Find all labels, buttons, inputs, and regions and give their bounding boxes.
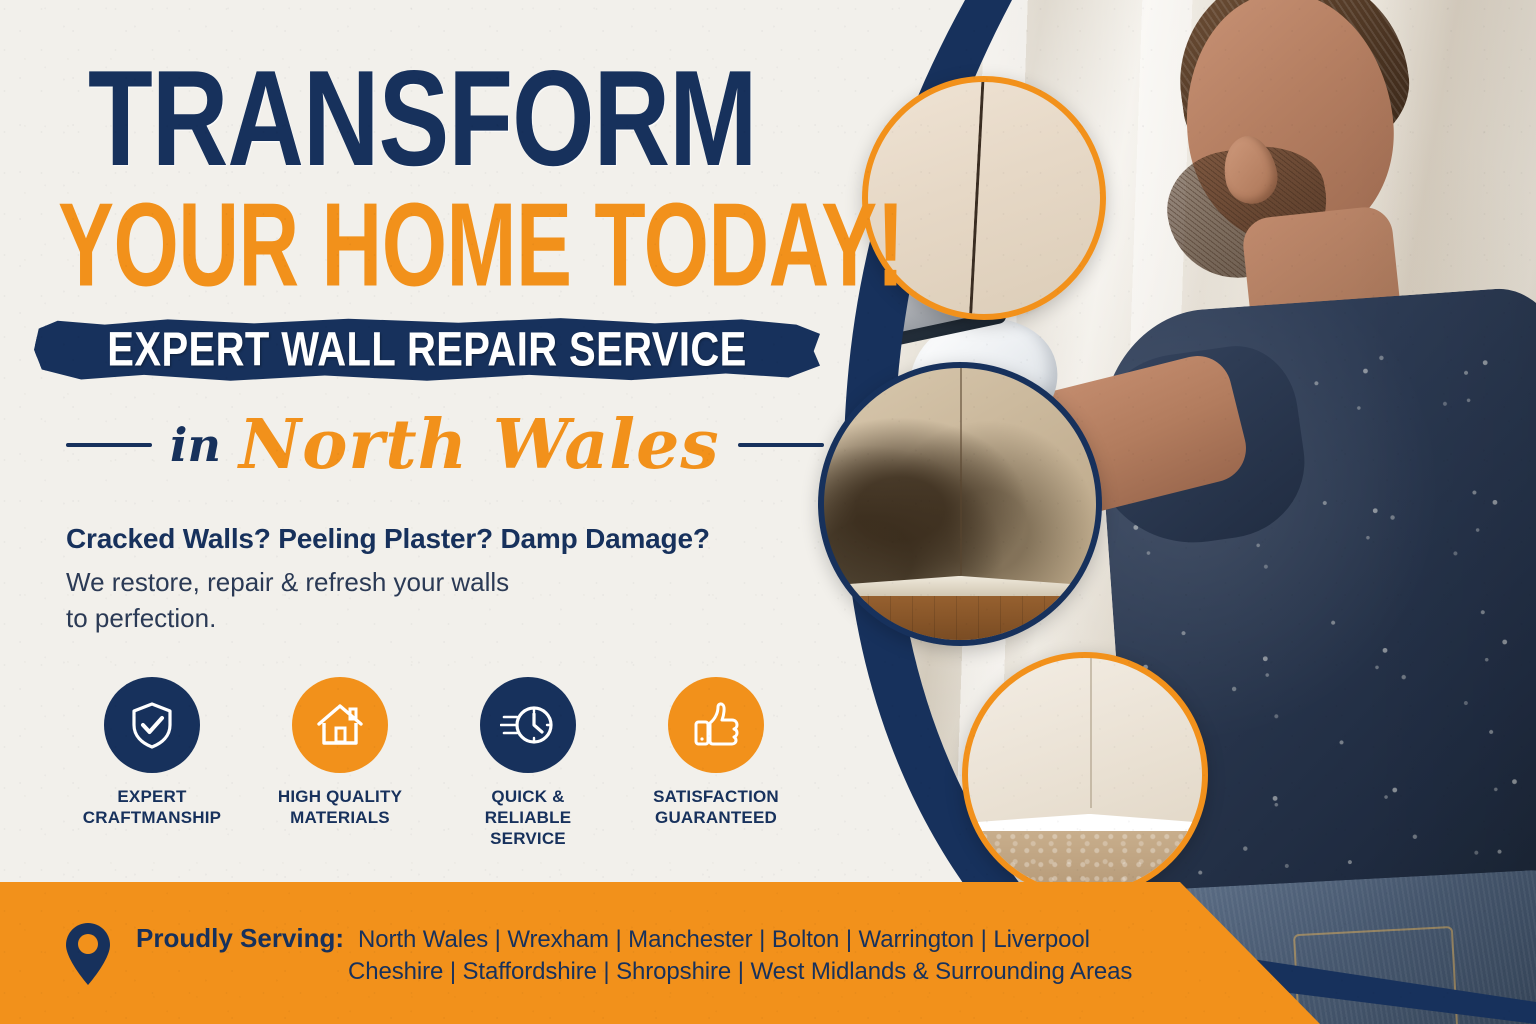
feature-label: QUICK & RELIABLE SERVICE: [452, 787, 604, 849]
advertisement-poster: TRANSFORM YOUR HOME TODAY! EXPERT WALL R…: [0, 0, 1536, 1024]
crack-detail: [968, 76, 985, 320]
serving-label: Proudly Serving:: [136, 923, 344, 954]
headline-line-1: TRANSFORM: [88, 62, 893, 176]
rule-right: [738, 443, 824, 447]
feature-label-line1: QUICK &: [491, 787, 564, 806]
serving-areas: Proudly Serving: North Wales | Wrexham |…: [0, 884, 1250, 1024]
serving-areas-line-1: North Wales | Wrexham | Manchester | Bol…: [358, 926, 1090, 954]
lead-question: Cracked Walls? Peeling Plaster? Damp Dam…: [66, 523, 870, 555]
feature-label: EXPERT CRAFTMANSHIP: [76, 787, 228, 828]
feature-item: QUICK & RELIABLE SERVICE: [452, 677, 604, 849]
body-line-2: to perfection.: [66, 601, 870, 635]
feature-icon-wrap: [668, 677, 764, 773]
feature-label-line2: CRAFTMANSHIP: [83, 808, 221, 827]
feature-label-line1: SATISFACTION: [653, 787, 779, 806]
clean-corner-edge: [1090, 658, 1092, 808]
feature-label-line2: GUARANTEED: [655, 808, 777, 827]
serving-block: Proudly Serving: North Wales | Wrexham |…: [136, 923, 1132, 986]
banner-label: EXPERT WALL REPAIR SERVICE: [34, 310, 820, 389]
body-line-1: We restore, repair & refresh your walls: [66, 565, 870, 599]
feature-item: SATISFACTION GUARANTEED: [640, 677, 792, 849]
feature-label: HIGH QUALITY MATERIALS: [264, 787, 416, 828]
fast-clock-icon: [500, 698, 556, 752]
location-prefix: in: [170, 418, 221, 472]
feature-item: HIGH QUALITY MATERIALS: [264, 677, 416, 849]
feature-list: EXPERT CRAFTMANSHIP HIGH QUALITY MATERIA…: [76, 677, 870, 849]
feature-label-line1: EXPERT: [117, 787, 186, 806]
feature-label-line2: MATERIALS: [290, 808, 390, 827]
feature-label-line1: HIGH QUALITY: [278, 787, 402, 806]
feature-label-line2: RELIABLE SERVICE: [485, 808, 572, 848]
serving-lines: Proudly Serving: North Wales | Wrexham |…: [136, 923, 1132, 986]
headline-line-2: YOUR HOME TODAY!: [58, 193, 870, 296]
map-pin-icon: [62, 921, 114, 987]
feature-icon-wrap: [104, 677, 200, 773]
serving-row-1: Proudly Serving: North Wales | Wrexham |…: [136, 923, 1132, 954]
rule-left: [66, 443, 152, 447]
shield-check-icon: [126, 699, 178, 751]
feature-icon-wrap: [480, 677, 576, 773]
feature-item: EXPERT CRAFTMANSHIP: [76, 677, 228, 849]
feature-label: SATISFACTION GUARANTEED: [640, 787, 792, 828]
location-place: North Wales: [239, 411, 720, 479]
damp-corner-edge: [960, 368, 962, 575]
service-banner: EXPERT WALL REPAIR SERVICE: [34, 317, 820, 383]
location-line: in North Wales: [66, 411, 870, 479]
thumbs-up-icon: [689, 698, 743, 752]
feature-icon-wrap: [292, 677, 388, 773]
serving-areas-line-2: Cheshire | Staffordshire | Shropshire | …: [136, 958, 1132, 986]
house-icon: [313, 698, 367, 752]
